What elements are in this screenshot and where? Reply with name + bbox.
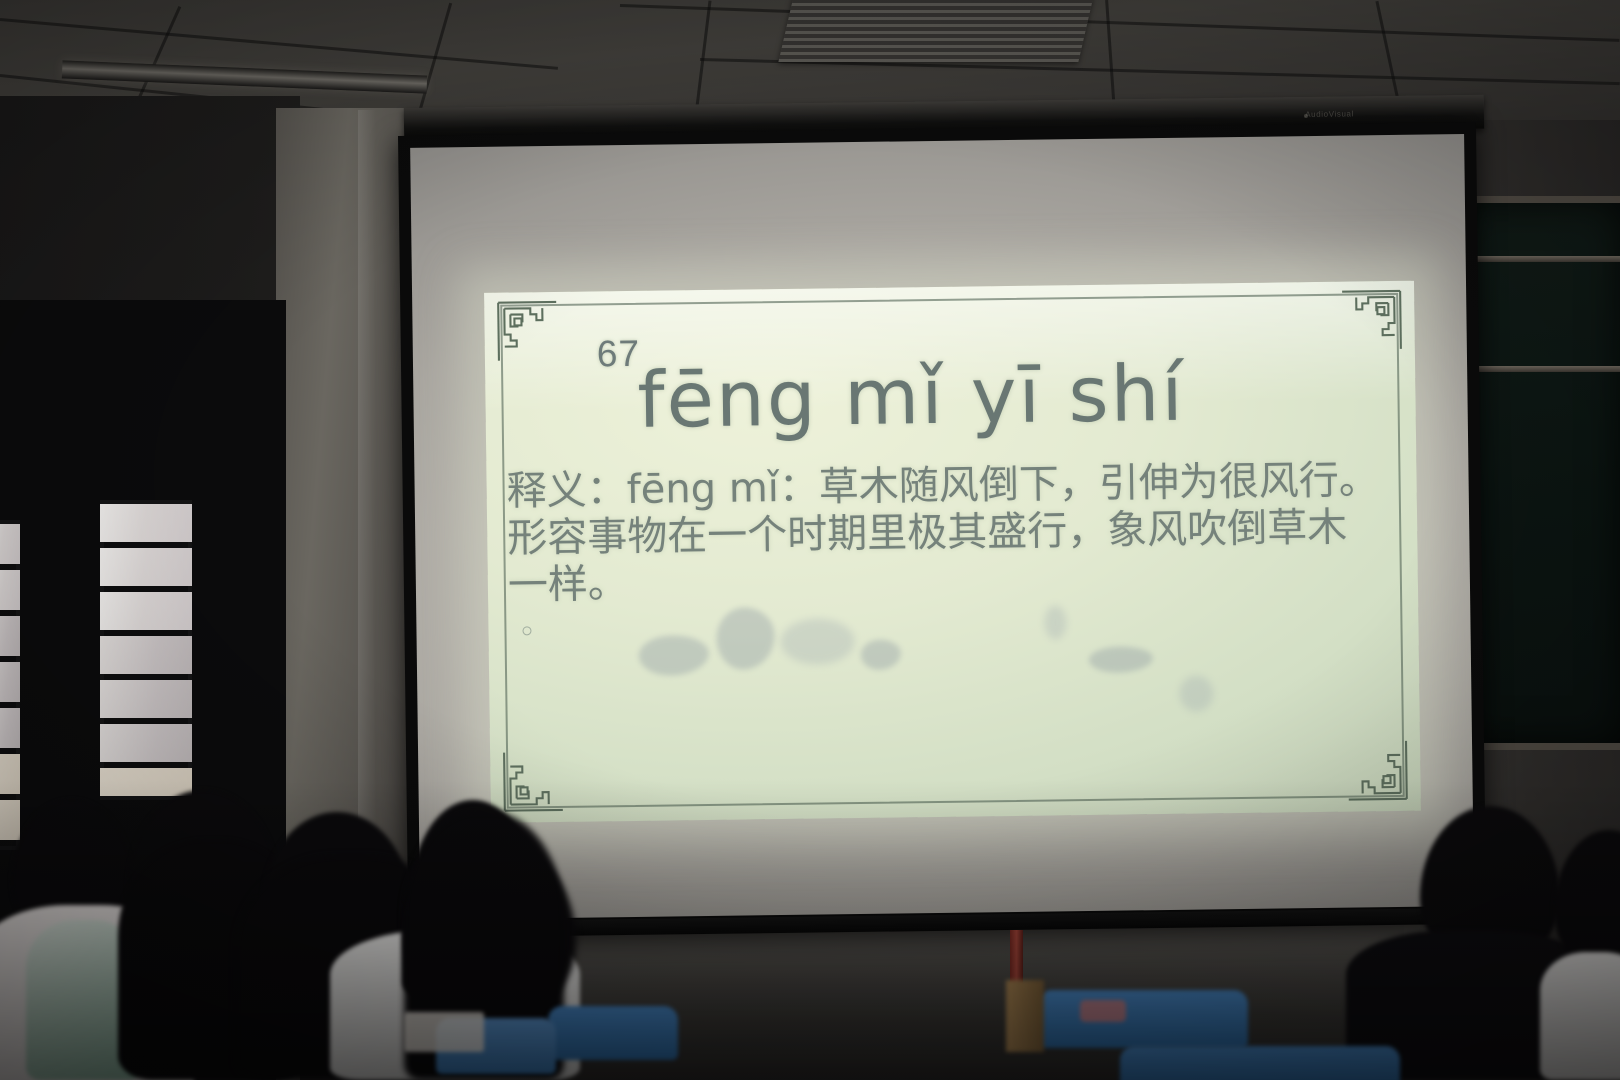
ink-wash-decor-7 [1044, 605, 1066, 639]
screen-canvas: 67 fēng mǐ yī shí 释义：fēng mǐ：草木随风倒下，引伸为很… [410, 134, 1474, 920]
ink-wash-decor-1 [639, 635, 710, 676]
screen-brand-label: AudioVisual [1305, 109, 1354, 119]
ink-wash-decor-3 [780, 618, 855, 665]
ink-wash-decor-6 [1179, 675, 1213, 711]
ink-wash-decor-5 [1089, 646, 1153, 673]
projected-slide: 67 fēng mǐ yī shí 释义：fēng mǐ：草木随风倒下，引伸为很… [484, 281, 1421, 823]
projector-screen: 67 fēng mǐ yī shí 释义：fēng mǐ：草木随风倒下，引伸为很… [398, 122, 1486, 936]
slide-number: 67 [597, 333, 641, 376]
classroom-scene: AudioVisual [0, 0, 1620, 1080]
screen-support-post [1010, 930, 1023, 992]
classroom-window-partial [0, 520, 20, 850]
meander-corner-top-right-icon [1340, 289, 1403, 352]
ink-wash-decor-2 [716, 607, 775, 670]
ceiling-air-vent [778, 0, 1093, 62]
slide-small-circle [522, 626, 531, 635]
meander-corner-bottom-left-icon [502, 750, 565, 813]
classroom-window [100, 500, 192, 800]
slide-definition: 释义：fēng mǐ：草木随风倒下，引伸为很风行。 形容事物在一个时期里极其盛行… [506, 457, 1406, 609]
ink-wash-decor-4 [861, 639, 901, 670]
meander-corner-bottom-right-icon [1346, 739, 1409, 802]
meander-corner-top-left-icon [496, 300, 559, 363]
slide-pinyin-title: fēng mǐ yī shí [637, 353, 1398, 440]
